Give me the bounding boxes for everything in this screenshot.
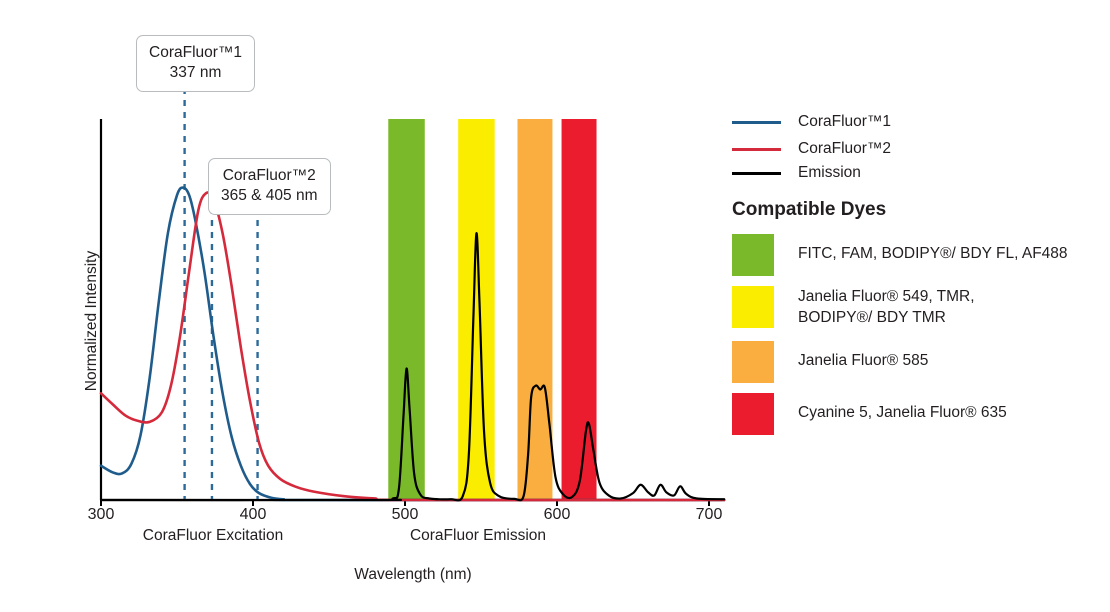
- dye-color-swatch-red: [732, 393, 774, 435]
- yellow-band: [458, 119, 494, 500]
- x-tick-label-500: 500: [392, 506, 419, 524]
- x-tick-label-700: 700: [696, 506, 723, 524]
- x-tick-label-300: 300: [88, 506, 115, 524]
- dye-label-green: FITC, FAM, BODIPY®/ BDY FL, AF488: [798, 234, 1068, 265]
- section-label-emission: CoraFluor Emission: [410, 527, 546, 545]
- callout-corafluor2-line1: CoraFluor™2: [221, 166, 318, 186]
- y-axis-title: Normalized Intensity: [83, 221, 101, 421]
- dye-row-green: FITC, FAM, BODIPY®/ BDY FL, AF488: [732, 234, 1068, 276]
- right-panel: CoraFluor™1 CoraFluor™2 Emission Compati…: [729, 0, 1110, 612]
- dye-label-yellow: Janelia Fluor® 549, TMR, BODIPY®/ BDY TM…: [798, 286, 975, 328]
- x-tick-label-600: 600: [544, 506, 571, 524]
- dye-row-red: Cyanine 5, Janelia Fluor® 635: [732, 393, 1007, 435]
- callout-corafluor1-line2: 337 nm: [149, 63, 242, 83]
- legend-label-emission: Emission: [798, 164, 861, 182]
- callout-corafluor1: CoraFluor™1 337 nm: [136, 35, 255, 92]
- dye-row-orange: Janelia Fluor® 585: [732, 341, 928, 383]
- callout-corafluor2-line2: 365 & 405 nm: [221, 186, 318, 206]
- legend-row-corafluor2: CoraFluor™2: [732, 140, 891, 158]
- x-tick-label-400: 400: [240, 506, 267, 524]
- legend-line-swatch-corafluor1: [732, 121, 781, 124]
- dye-label-orange: Janelia Fluor® 585: [798, 341, 928, 372]
- dye-color-swatch-yellow: [732, 286, 774, 328]
- legend-line-swatch-emission: [732, 172, 781, 175]
- fluorescence-spectra-figure: CoraFluor™1 337 nm CoraFluor™2 365 & 405…: [0, 0, 1110, 612]
- callout-corafluor2: CoraFluor™2 365 & 405 nm: [208, 158, 331, 215]
- dye-row-yellow: Janelia Fluor® 549, TMR, BODIPY®/ BDY TM…: [732, 286, 975, 328]
- dye-label-red: Cyanine 5, Janelia Fluor® 635: [798, 393, 1007, 424]
- dye-color-swatch-green: [732, 234, 774, 276]
- section-label-excitation: CoraFluor Excitation: [143, 527, 283, 545]
- orange-band: [517, 119, 552, 500]
- legend-label-corafluor2: CoraFluor™2: [798, 140, 891, 158]
- compatible-dyes-heading: Compatible Dyes: [732, 199, 886, 221]
- legend-line-swatch-corafluor2: [732, 148, 781, 151]
- legend-label-corafluor1: CoraFluor™1: [798, 113, 891, 131]
- x-axis-title: Wavelength (nm): [354, 566, 471, 584]
- legend-row-corafluor1: CoraFluor™1: [732, 113, 891, 131]
- legend-row-emission: Emission: [732, 164, 861, 182]
- green-band: [388, 119, 424, 500]
- plot-area: CoraFluor™1 337 nm CoraFluor™2 365 & 405…: [0, 0, 730, 612]
- dye-color-swatch-orange: [732, 341, 774, 383]
- callout-corafluor1-line1: CoraFluor™1: [149, 43, 242, 63]
